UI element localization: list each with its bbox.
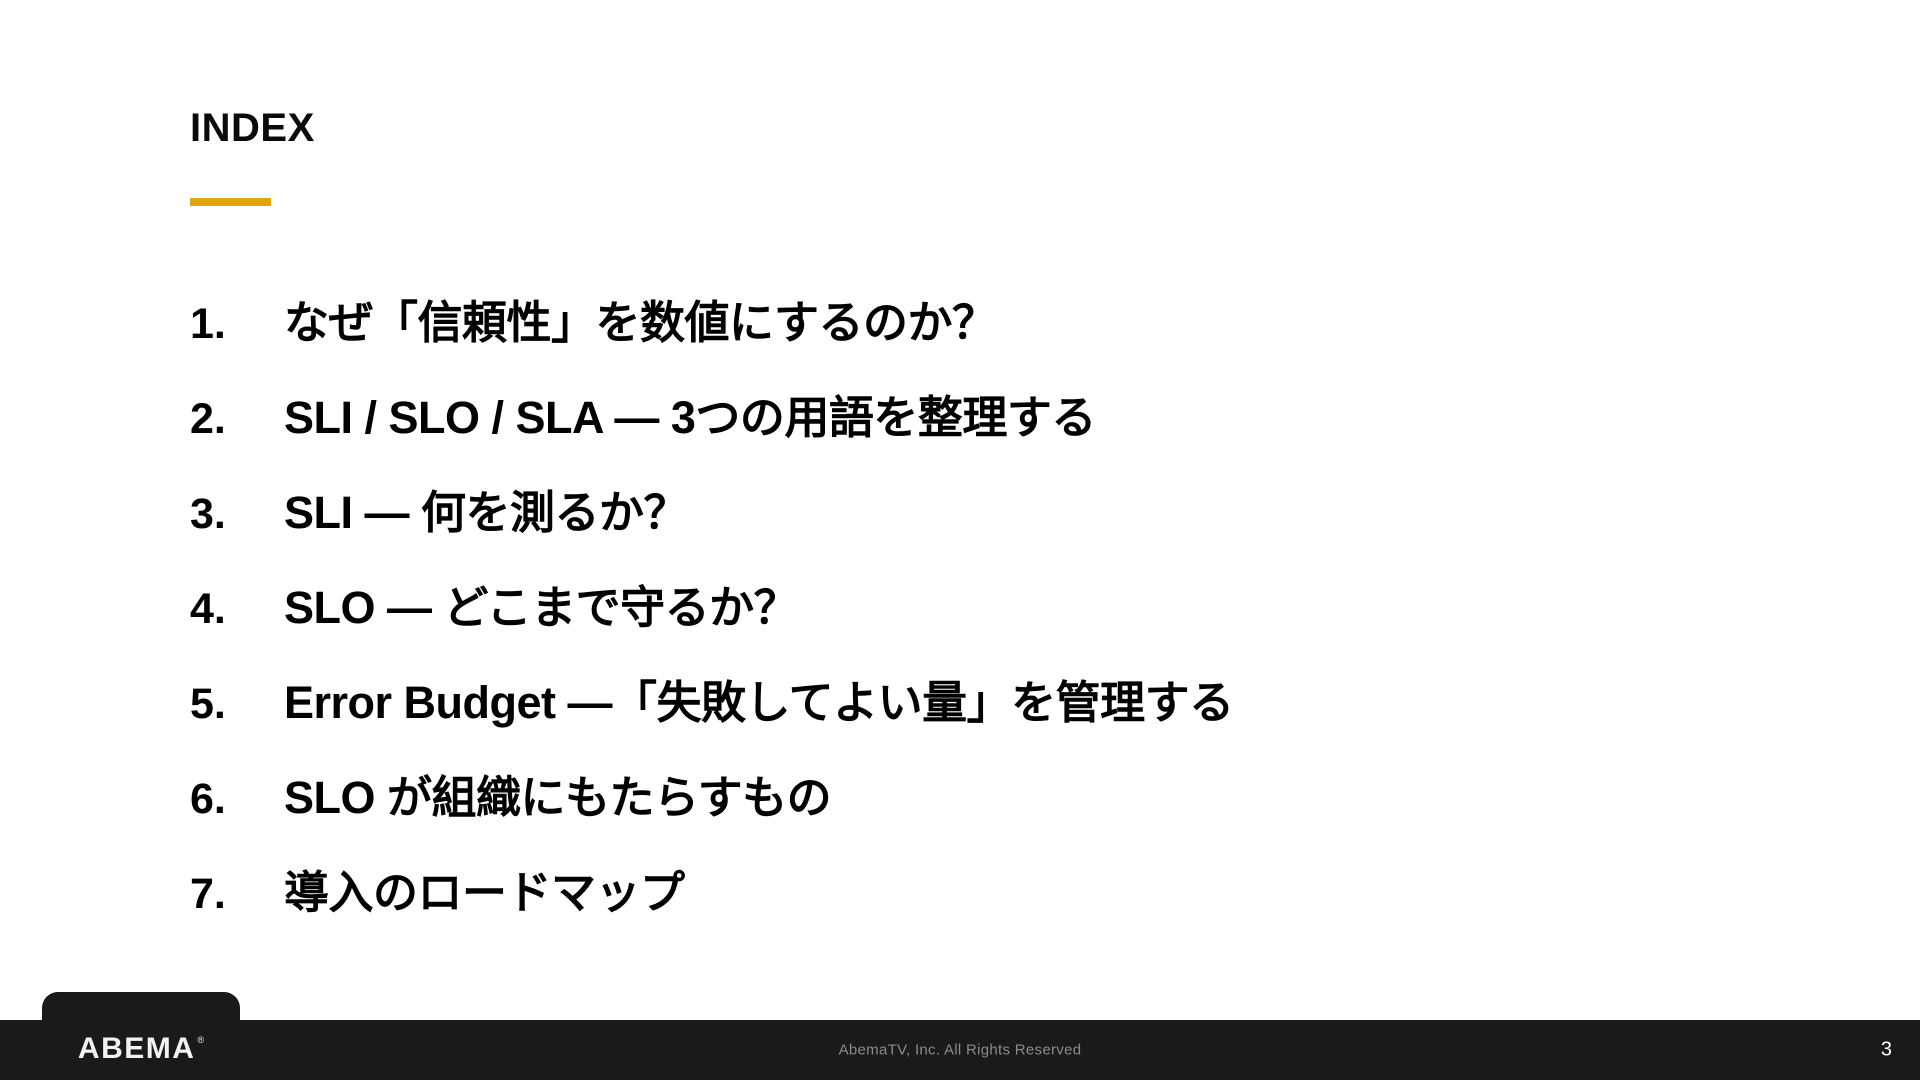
list-item-label: 導入のロードマップ bbox=[284, 870, 685, 915]
copyright-text: AbemaTV, Inc. All Rights Reserved bbox=[0, 1042, 1920, 1059]
list-item: 7. 導入のロードマップ bbox=[190, 870, 1840, 965]
registered-trademark-icon: ® bbox=[197, 1036, 204, 1045]
list-item-label: Error Budget ―「失敗してよい量」を管理する bbox=[284, 680, 1234, 725]
list-item: 1. なぜ「信頼性」を数値にするのか？ bbox=[190, 300, 1840, 395]
list-item-number: 6. bbox=[190, 778, 284, 821]
abema-logo-text: ABEMA bbox=[78, 1034, 196, 1064]
list-item: 6. SLO が組織にもたらすもの bbox=[190, 775, 1840, 870]
list-item-label: SLI / SLO / SLA ― 3つの用語を整理する bbox=[284, 395, 1096, 440]
list-item: 4. SLO ― どこまで守るか？ bbox=[190, 585, 1840, 680]
slide-heading-block: INDEX bbox=[190, 108, 315, 206]
list-item: 5. Error Budget ―「失敗してよい量」を管理する bbox=[190, 680, 1840, 775]
list-item-number: 4. bbox=[190, 588, 284, 631]
list-item: 3. SLI ― 何を測るか？ bbox=[190, 490, 1840, 585]
list-item-label: SLO が組織にもたらすもの bbox=[284, 775, 831, 820]
list-item-number: 7. bbox=[190, 873, 284, 916]
list-item: 2. SLI / SLO / SLA ― 3つの用語を整理する bbox=[190, 395, 1840, 490]
page-title: INDEX bbox=[190, 108, 315, 148]
list-item-label: SLO ― どこまで守るか？ bbox=[284, 585, 798, 630]
list-item-label: SLI ― 何を測るか？ bbox=[284, 490, 688, 535]
list-item-number: 2. bbox=[190, 398, 284, 441]
page-number: 3 bbox=[1881, 1039, 1892, 1062]
brand-logo-tab: ABEMA ® bbox=[42, 992, 240, 1080]
list-item-number: 3. bbox=[190, 493, 284, 536]
list-item-number: 5. bbox=[190, 683, 284, 726]
abema-logo: ABEMA ® bbox=[78, 1034, 204, 1064]
index-list: 1. なぜ「信頼性」を数値にするのか？ 2. SLI / SLO / SLA ―… bbox=[190, 300, 1840, 965]
list-item-label: なぜ「信頼性」を数値にするのか？ bbox=[284, 300, 996, 345]
slide-footer: AbemaTV, Inc. All Rights Reserved 3 bbox=[0, 1020, 1920, 1080]
title-accent-bar bbox=[190, 198, 271, 206]
list-item-number: 1. bbox=[190, 303, 284, 346]
slide-canvas: INDEX 1. なぜ「信頼性」を数値にするのか？ 2. SLI / SLO /… bbox=[0, 0, 1920, 1080]
